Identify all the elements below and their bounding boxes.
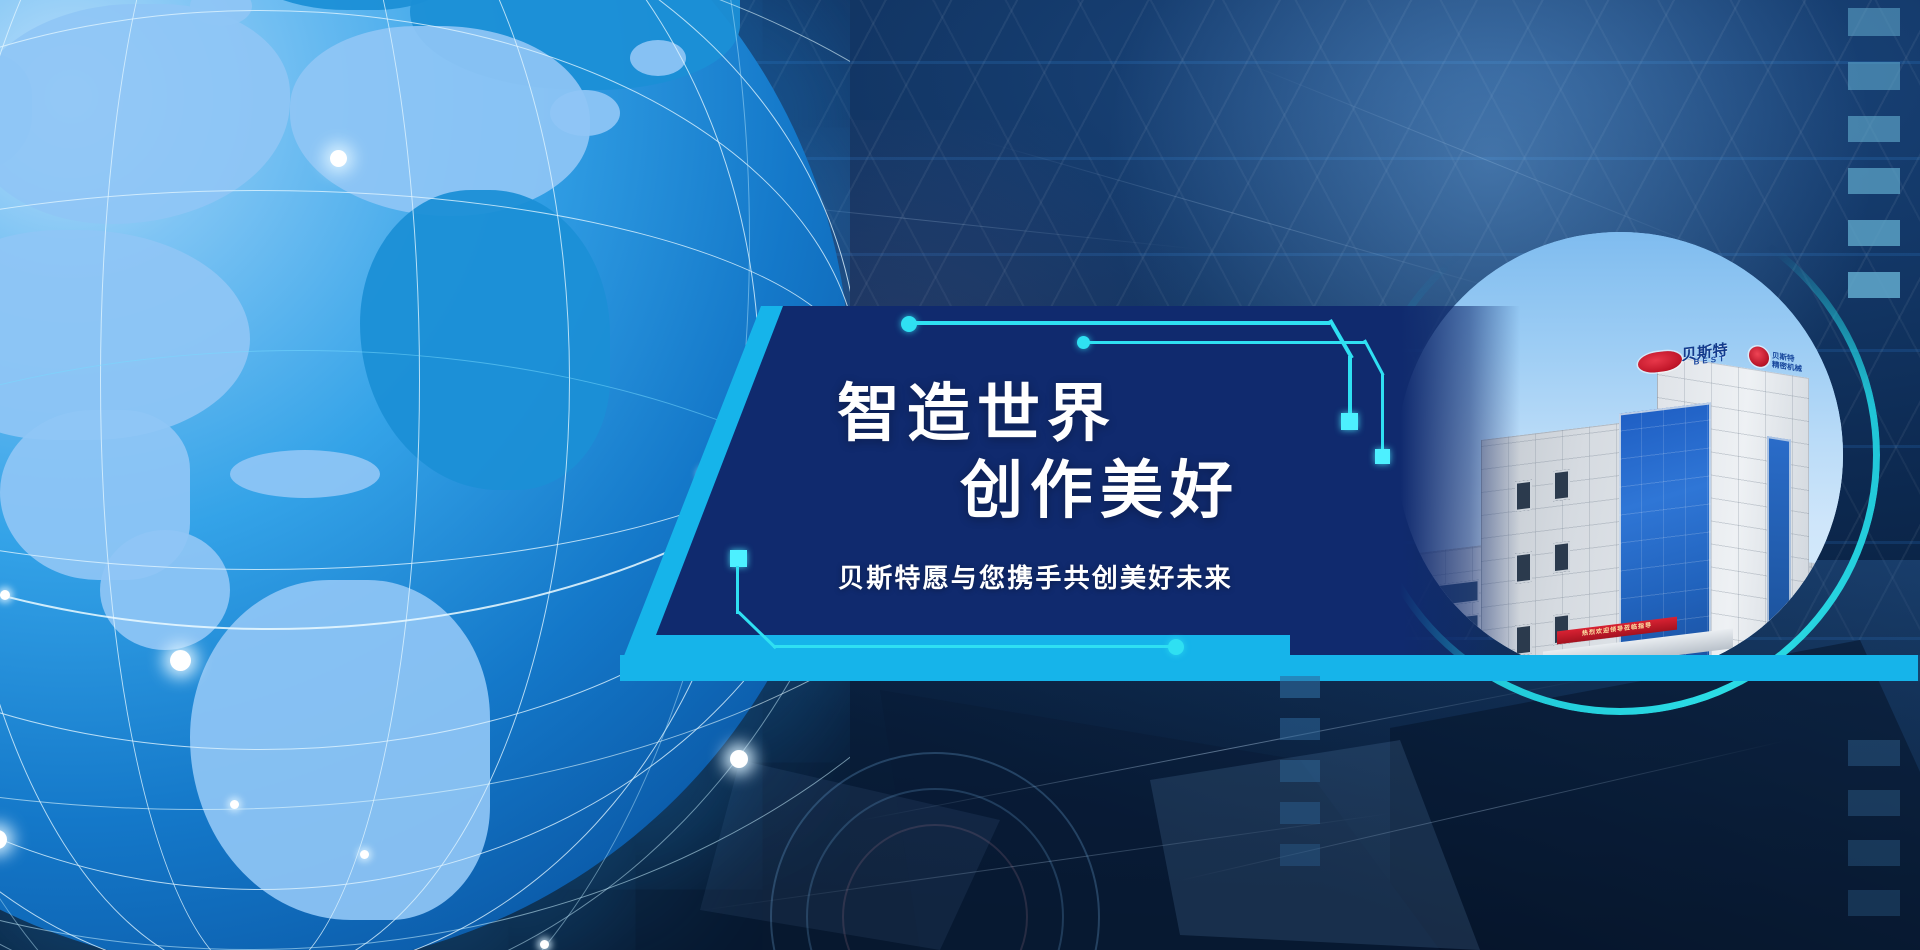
trace-line-bottom-vertical — [736, 566, 739, 614]
block-column-right-lower — [1848, 740, 1900, 916]
trace-line-upper-vertical — [1381, 374, 1384, 452]
photo-window — [1553, 541, 1570, 573]
block-item — [1848, 220, 1900, 246]
block-item — [1848, 890, 1900, 916]
secondary-logo-icon — [1749, 345, 1769, 368]
network-node — [0, 590, 10, 600]
trace-line-top-horizontal — [914, 321, 1330, 325]
trace-square-bottom-left — [730, 550, 747, 567]
block-item — [1848, 740, 1900, 766]
network-node — [170, 650, 191, 671]
trace-line-upper-horizontal — [1087, 341, 1365, 344]
network-node — [330, 150, 347, 167]
block-column-right — [1848, 8, 1900, 298]
headline-line-2: 创作美好 — [960, 460, 1240, 523]
block-column-center — [1280, 676, 1320, 866]
network-node — [730, 750, 748, 768]
block-item — [1280, 676, 1320, 698]
block-item — [1848, 116, 1900, 142]
block-item — [1280, 760, 1320, 782]
block-item — [1848, 8, 1900, 36]
network-node — [540, 940, 549, 949]
company-logo-icon — [1638, 349, 1682, 374]
block-item — [1848, 840, 1900, 866]
network-node — [230, 800, 239, 809]
trace-square-top — [1341, 413, 1358, 430]
banner-stage: 热烈欢迎领导莅临指导 贝斯特 BEST 贝斯特精密机械 智造世界 创作美好 — [0, 0, 1920, 950]
block-item — [1848, 168, 1900, 194]
banner-cyan-bar-fade — [1360, 655, 1920, 681]
photo-glass-secondary — [1767, 436, 1791, 650]
block-item — [1280, 718, 1320, 740]
block-item — [1848, 62, 1900, 90]
trace-line-top-vertical — [1348, 356, 1352, 416]
trace-square-upper — [1375, 449, 1390, 464]
block-item — [1848, 272, 1900, 298]
network-node — [360, 850, 369, 859]
secondary-sign-text: 贝斯特精密机械 — [1772, 351, 1802, 374]
photo-window — [1553, 469, 1570, 501]
block-item — [1280, 802, 1320, 824]
block-item — [1848, 790, 1900, 816]
banner-subtitle: 贝斯特愿与您携手共创美好未来 — [838, 558, 1233, 595]
trace-dot-bottom-right — [1168, 639, 1184, 655]
headline-line-1: 智造世界 — [837, 383, 1117, 446]
block-item — [1280, 844, 1320, 866]
trace-line-bottom-horizontal — [773, 645, 1175, 648]
